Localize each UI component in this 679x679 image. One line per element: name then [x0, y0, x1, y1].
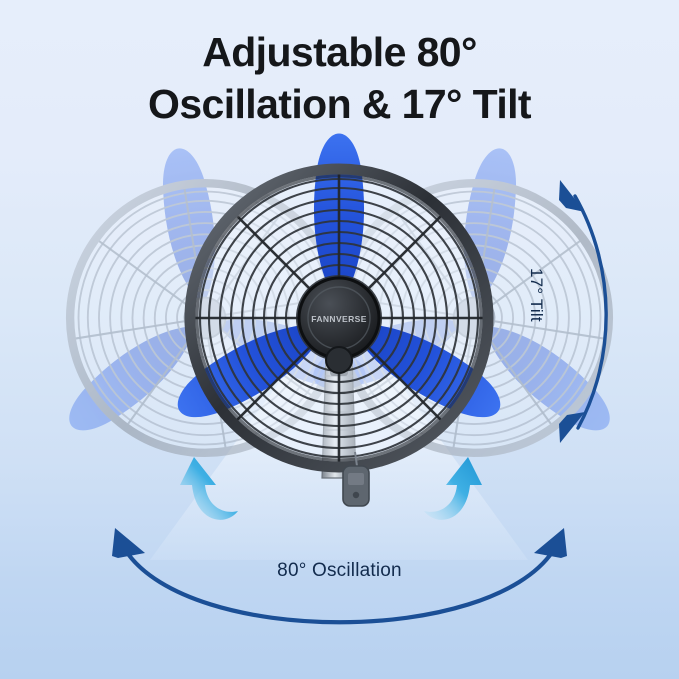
oscillation-label: 80° Oscillation	[0, 560, 679, 582]
oscillation-arrow-right	[534, 528, 567, 558]
tilt-label: 17° Tilt	[526, 268, 546, 322]
product-feature-image: Adjustable 80° Oscillation & 17° Tilt	[0, 0, 679, 679]
brand-wordmark: FANNVERSE	[311, 314, 367, 324]
tilt-arrow-top	[559, 180, 585, 212]
oscillation-arrow-left	[112, 528, 145, 558]
